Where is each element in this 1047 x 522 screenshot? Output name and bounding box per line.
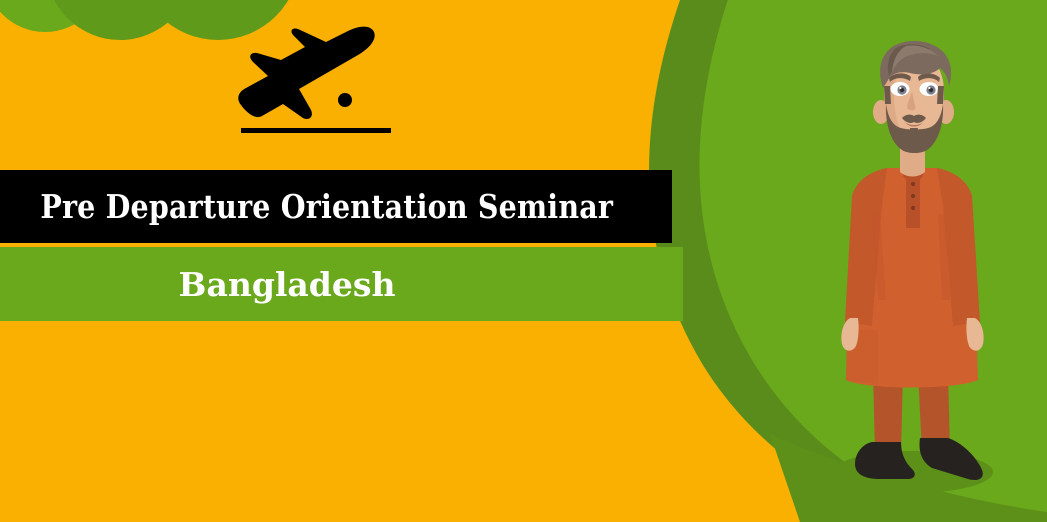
banner-root: Pre Departure Orientation Seminar Bangla… [0, 0, 1047, 522]
page-subtitle: Bangladesh [0, 265, 574, 304]
title-band: Pre Departure Orientation Seminar [0, 170, 672, 243]
page-title: Pre Departure Orientation Seminar [0, 187, 613, 226]
figure-kurta [845, 166, 980, 388]
subtitle-band: Bangladesh [0, 247, 683, 321]
runway-line-icon [241, 128, 391, 133]
